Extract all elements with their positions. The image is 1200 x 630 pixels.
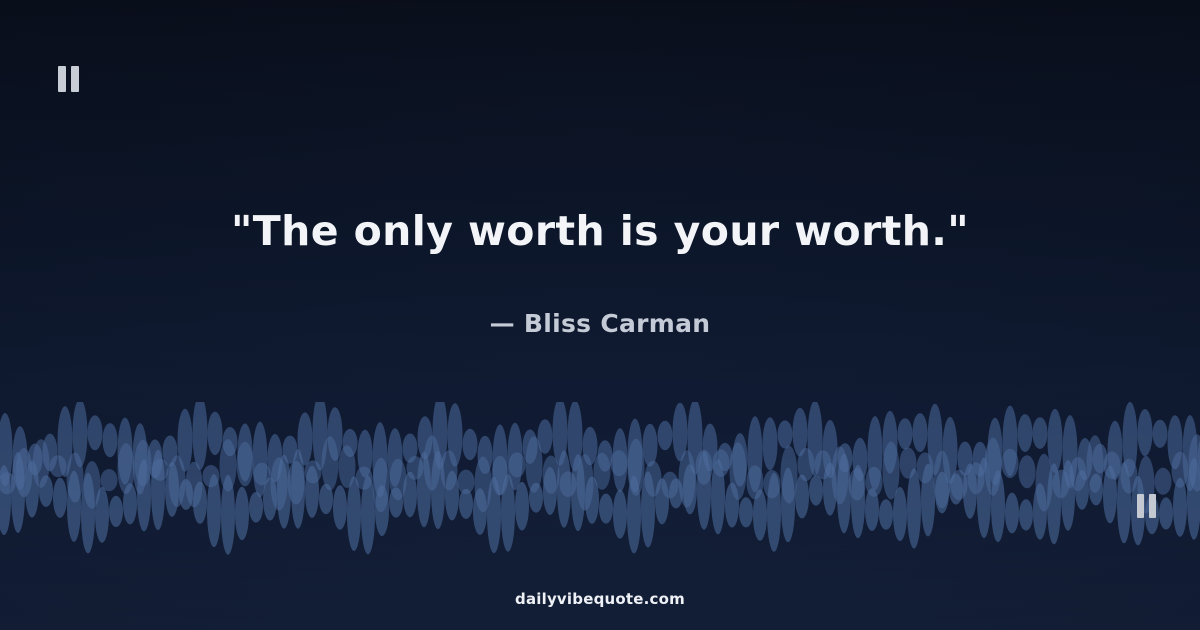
quote-bar-left-closing [1137, 494, 1144, 518]
quote-bar-right-closing [1149, 494, 1156, 518]
footer-site: dailyvibequote.com [0, 590, 1200, 608]
waveform-decoration [0, 402, 1200, 562]
quote-block: "The only worth is your worth." — Bliss … [0, 206, 1200, 338]
quote-text: "The only worth is your worth." [90, 206, 1110, 257]
quote-author: — Bliss Carman [0, 309, 1200, 338]
quote-card: "The only worth is your worth." — Bliss … [0, 0, 1200, 630]
quote-bars-icon-closing [1137, 494, 1156, 518]
quote-bar-right [71, 66, 79, 92]
quote-bars-icon [58, 66, 79, 92]
quote-bar-left [58, 66, 66, 92]
